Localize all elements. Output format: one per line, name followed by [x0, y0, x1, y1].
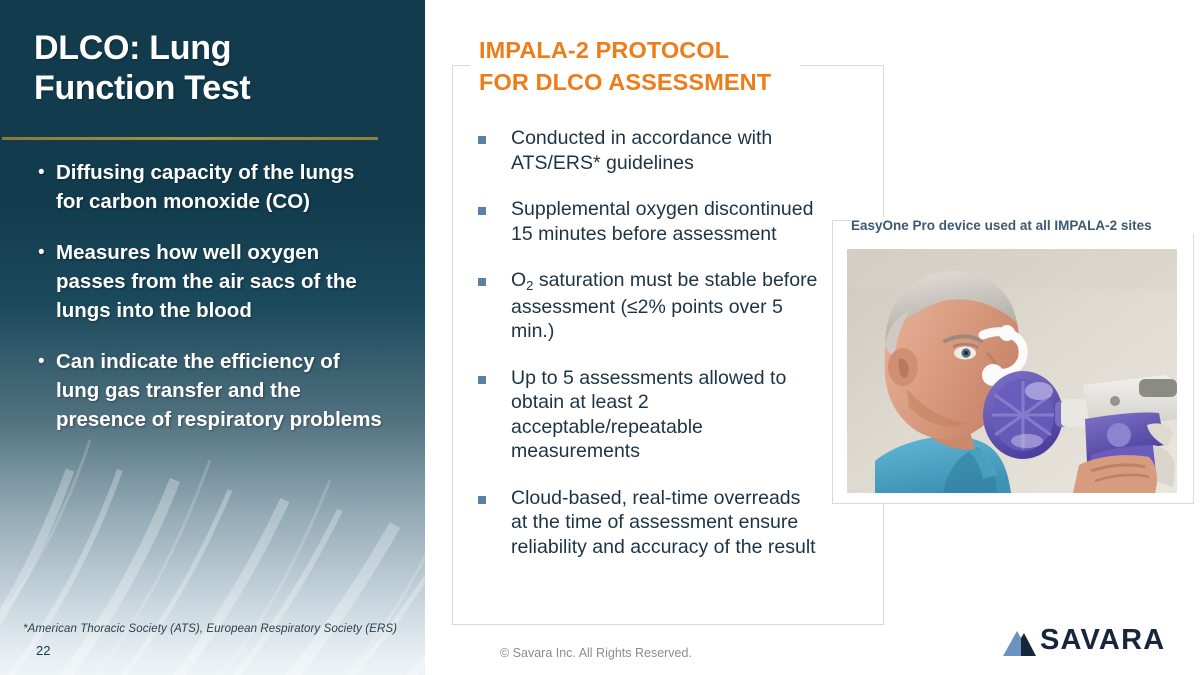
list-item: • Diffusing capacity of the lungs for ca…: [28, 158, 400, 216]
copyright-text: © Savara Inc. All Rights Reserved.: [500, 646, 692, 660]
device-photo: [847, 249, 1177, 493]
bullet-square-icon: [478, 486, 511, 560]
oxygen-subscript: 2: [526, 278, 533, 293]
left-bullet-text: Measures how well oxygen passes from the…: [56, 238, 386, 325]
left-bullet-text: Diffusing capacity of the lungs for carb…: [56, 158, 386, 216]
page-title: DLCO: Lung Function Test: [34, 28, 374, 108]
list-item: O2 saturation must be stable before asse…: [478, 268, 818, 344]
photo-caption: EasyOne Pro device used at all IMPALA-2 …: [851, 217, 1196, 234]
protocol-bullet-text: Conducted in accordance with ATS/ERS* gu…: [511, 126, 818, 175]
savara-logo-text: SAVARA: [1040, 624, 1165, 657]
left-panel: DLCO: Lung Function Test • Diffusing cap…: [0, 0, 425, 675]
section-heading: IMPALA-2 PROTOCOL FOR DLCO ASSESSMENT: [479, 34, 879, 99]
list-item: Cloud-based, real-time overreads at the …: [478, 486, 818, 560]
list-item: Supplemental oxygen discontinued 15 minu…: [478, 197, 818, 246]
footnote: *American Thoracic Society (ATS), Europe…: [23, 623, 413, 635]
bullet-square-icon: [478, 366, 511, 464]
list-item: • Measures how well oxygen passes from t…: [28, 238, 400, 325]
protocol-bullet-text: Cloud-based, real-time overreads at the …: [511, 486, 818, 560]
left-bullet-text: Can indicate the efficiency of lung gas …: [56, 347, 386, 434]
slide: DLCO: Lung Function Test • Diffusing cap…: [0, 0, 1200, 675]
bullet-square-icon: [478, 268, 511, 344]
page-number: 22: [36, 643, 50, 658]
protocol-bullet-text: Up to 5 assessments allowed to obtain at…: [511, 366, 818, 464]
section-heading-line-2: FOR DLCO ASSESSMENT: [479, 66, 879, 98]
left-bullet-list: • Diffusing capacity of the lungs for ca…: [28, 158, 400, 456]
protocol-bullet-list: Conducted in accordance with ATS/ERS* gu…: [478, 126, 818, 581]
list-item: Up to 5 assessments allowed to obtain at…: [478, 366, 818, 464]
bullet-square-icon: [478, 197, 511, 246]
oxygen-text-rest: saturation must be stable before assessm…: [511, 269, 817, 342]
bullet-square-icon: [478, 126, 511, 175]
list-item: Conducted in accordance with ATS/ERS* gu…: [478, 126, 818, 175]
savara-logo-mark-icon: [1002, 629, 1038, 657]
bullet-dot-icon: •: [28, 347, 56, 434]
list-item: • Can indicate the efficiency of lung ga…: [28, 347, 400, 434]
bullet-dot-icon: •: [28, 158, 56, 216]
bullet-dot-icon: •: [28, 238, 56, 325]
protocol-bullet-text-oxygen: O2 saturation must be stable before asse…: [511, 268, 818, 344]
protocol-bullet-text: Supplemental oxygen discontinued 15 minu…: [511, 197, 818, 246]
title-divider-rule: [2, 137, 378, 140]
oxygen-symbol: O: [511, 269, 526, 291]
section-heading-line-1: IMPALA-2 PROTOCOL: [479, 34, 879, 66]
